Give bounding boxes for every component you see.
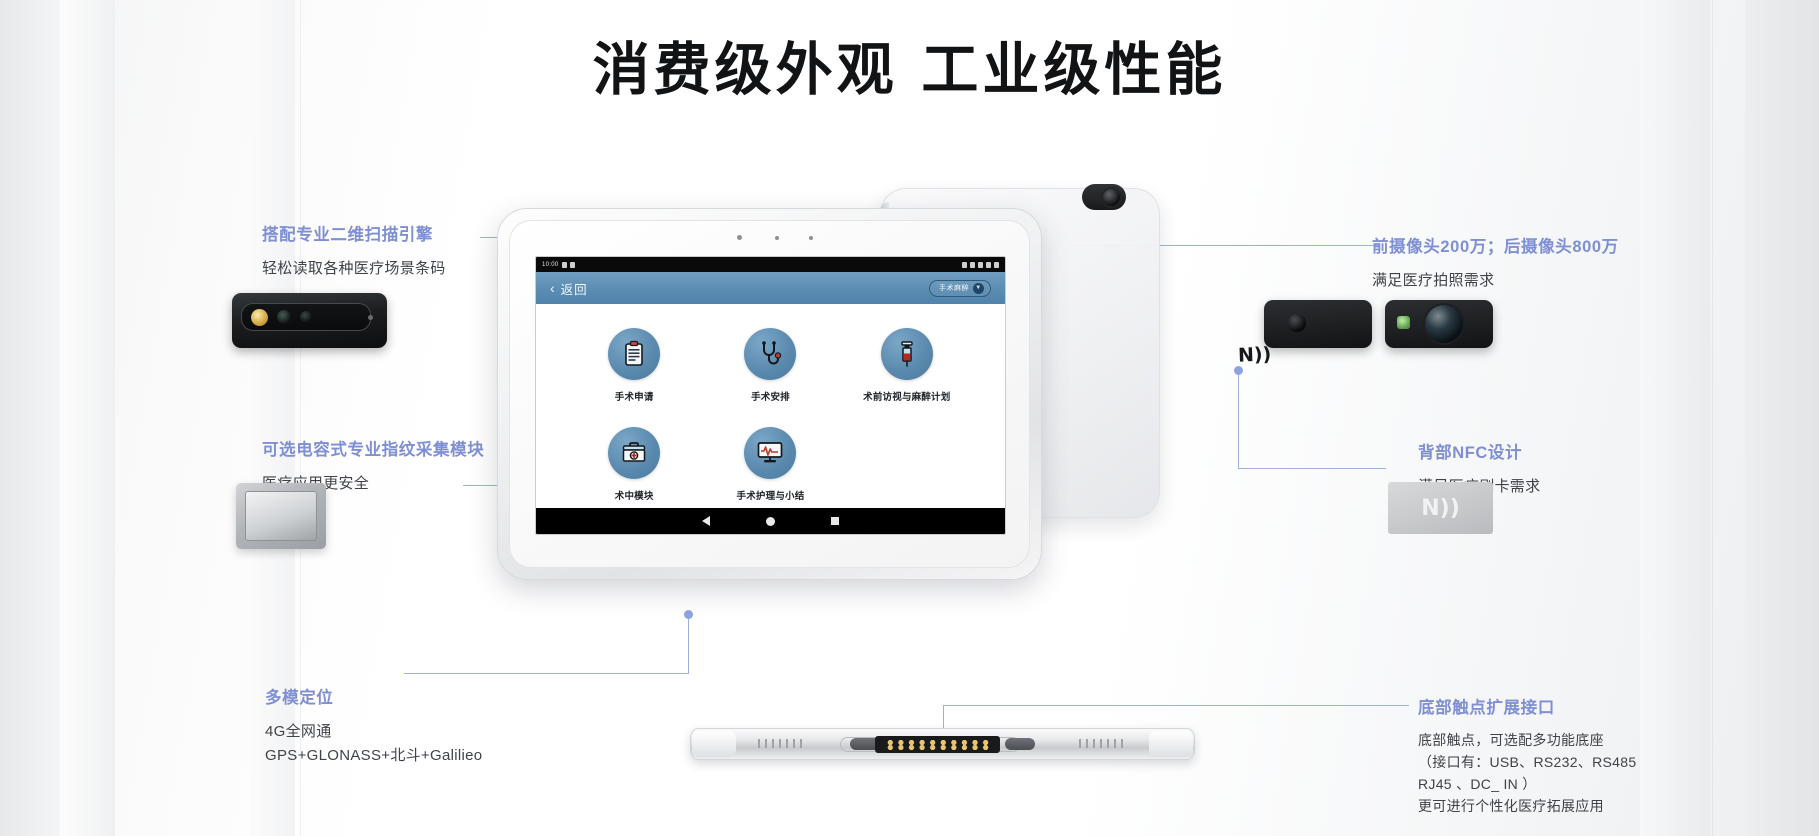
app-bar: ‹ 返回 手术麻醉 ▼: [536, 272, 1005, 304]
nfc-icon: N)): [1421, 496, 1460, 521]
front-camera-photo: [1264, 300, 1372, 348]
nfc-tag-photo: N)): [1388, 482, 1493, 534]
scan-lens-secondary-icon: [300, 311, 312, 323]
app-grid: 手术申请 手术安排: [536, 304, 1005, 502]
barcode-scan-engine-photo: [232, 293, 387, 348]
settings-icon: [978, 262, 983, 268]
back-button[interactable]: ‹ 返回: [550, 279, 588, 298]
sim-icon: [570, 262, 575, 268]
status-bar-left: 10:00: [542, 262, 575, 268]
tablet-bottom-edge-view: [690, 728, 1195, 760]
app-tile-label: 手术安排: [751, 389, 790, 403]
annotation-fingerprint-title: 可选电容式专业指纹采集模块: [262, 440, 484, 461]
android-status-bar: 10:00: [536, 257, 1005, 272]
background-streak: [1640, 0, 1710, 836]
scan-window: [241, 303, 371, 331]
annotation-dock: 底部触点扩展接口 底部触点，可选配多功能底座 （接口有：USB、RS232、RS…: [1418, 698, 1636, 817]
back-triangle-icon[interactable]: [702, 516, 710, 526]
leader-line-nfc: [1238, 468, 1386, 469]
chevron-down-icon: ▼: [973, 283, 984, 294]
background-streak: [1745, 0, 1819, 836]
leader-line-nfc-drop: [1238, 370, 1239, 468]
nfc-icon: N)): [1238, 343, 1272, 366]
chevron-left-icon: ‹: [550, 281, 556, 295]
speaker-grille-right: [1079, 739, 1127, 748]
front-camera-icon: [737, 235, 742, 240]
back-button-label: 返回: [561, 279, 588, 298]
annotation-positioning-title: 多模定位: [265, 688, 482, 709]
annotation-scan-engine-desc: 轻松读取各种医疗场景条码: [262, 257, 446, 280]
status-bar-right: [962, 262, 999, 268]
medical-kit-icon: [608, 427, 660, 479]
leader-dot-positioning: [684, 610, 693, 619]
front-light-sensor-icon: [809, 236, 813, 240]
annotation-cameras-title: 前摄像头200万；后摄像头800万: [1372, 237, 1619, 258]
annotation-cameras: 前摄像头200万；后摄像头800万 满足医疗拍照需求: [1372, 237, 1619, 293]
pogo-pin-connector: [875, 736, 1000, 753]
stethoscope-icon: [744, 328, 796, 380]
annotation-scan-engine: 搭配专业二维扫描引擎 轻松读取各种医疗场景条码: [262, 225, 446, 281]
annotation-positioning-desc: 4G全网通 GPS+GLONASS+北斗+Galilieo: [265, 720, 482, 767]
app-tile-preop-visit-anesthesia-plan[interactable]: 术前访视与麻醉计划: [839, 328, 975, 403]
bluetooth-icon: [970, 262, 975, 268]
scan-lens-icon: [277, 310, 291, 324]
annotation-scan-engine-title: 搭配专业二维扫描引擎: [262, 225, 446, 246]
background-streak: [60, 0, 115, 836]
app-tile-surgery-application[interactable]: 手术申请: [566, 328, 702, 403]
camera-flash-icon: [1397, 316, 1410, 329]
speaker-grille-left: [758, 739, 806, 748]
pogo-pins: [885, 740, 991, 750]
battery-icon: [994, 262, 999, 268]
edge-cap-left: [692, 731, 736, 757]
dock-guide-right: [1005, 738, 1035, 750]
annotation-cameras-desc: 满足医疗拍照需求: [1372, 269, 1619, 292]
app-tile-intraop-module[interactable]: 术中模块: [566, 427, 702, 502]
android-navigation-bar: [536, 508, 1005, 534]
app-tile-empty: [839, 427, 975, 502]
leader-line-positioning: [404, 673, 689, 674]
status-bar-time: 10:00: [542, 262, 559, 268]
app-tile-label: 术前访视与麻醉计划: [863, 389, 950, 403]
home-circle-icon[interactable]: [766, 517, 775, 526]
leader-line-positioning-drop: [688, 614, 689, 674]
module-selector[interactable]: 手术麻醉 ▼: [929, 280, 991, 297]
annotation-dock-desc: 底部触点，可选配多功能底座 （接口有：USB、RS232、RS485 RJ45 …: [1418, 730, 1636, 817]
app-tile-surgical-nursing-summary[interactable]: 手术护理与小结: [702, 427, 838, 502]
rear-camera-photo: [1385, 300, 1493, 348]
tablet-front-view: 10:00 ‹ 返回 手术麻醉 ▼: [497, 208, 1042, 580]
annotation-dock-title: 底部触点扩展接口: [1418, 698, 1636, 719]
fingerprint-module-photo: [236, 483, 326, 549]
scan-led-icon: [251, 309, 268, 326]
tablet-screen: 10:00 ‹ 返回 手术麻醉 ▼: [535, 256, 1006, 535]
leader-dot-nfc: [1234, 366, 1243, 375]
clipboard-icon: [608, 328, 660, 380]
app-tile-label: 手术护理与小结: [737, 488, 805, 502]
leader-line-dock: [943, 705, 1409, 706]
front-sensor-icon: [775, 236, 779, 240]
edge-cap-right: [1149, 731, 1193, 757]
vitals-monitor-icon: [744, 427, 796, 479]
scan-indicator-dot: [368, 315, 373, 320]
sd-card-icon: [562, 262, 567, 268]
page-title: 消费级外观 工业级性能: [0, 24, 1819, 106]
usb-icon: [962, 262, 967, 268]
app-tile-label: 手术申请: [615, 389, 654, 403]
app-tile-surgery-schedule[interactable]: 手术安排: [702, 328, 838, 403]
annotation-nfc-title: 背部NFC设计: [1418, 443, 1540, 464]
module-selector-label: 手术麻醉: [939, 283, 969, 293]
tablet-rear-camera-lens-icon: [1103, 189, 1120, 206]
rear-camera-lens-icon: [1425, 305, 1463, 343]
annotation-positioning: 多模定位 4G全网通 GPS+GLONASS+北斗+Galilieo: [265, 688, 482, 767]
fingerprint-sensor-pad: [245, 491, 317, 541]
syringe-icon: [881, 328, 933, 380]
wifi-icon: [986, 262, 991, 268]
recents-square-icon[interactable]: [831, 517, 839, 525]
background-streak: [0, 0, 60, 836]
background-panel-line: [1712, 0, 1713, 836]
app-tile-label: 术中模块: [615, 488, 654, 502]
front-camera-lens-icon: [1288, 314, 1306, 332]
